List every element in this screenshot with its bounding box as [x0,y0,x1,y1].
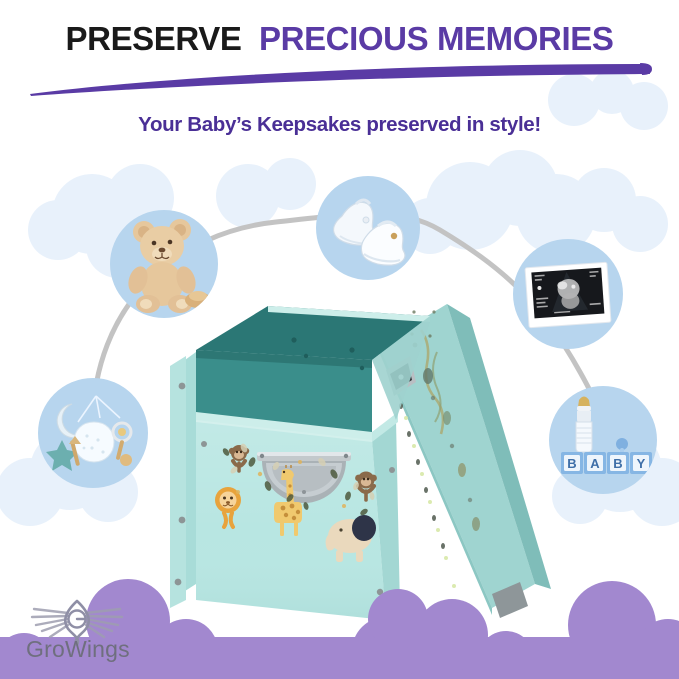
brand-logo[interactable]: GroWings [24,597,174,665]
brand-wordmark: GroWings [26,636,130,663]
baby-keepsake-box[interactable] [0,0,679,679]
promo-graphic: PRESERVE PRECIOUS MEMORIES Your Baby’s K… [0,0,679,679]
box-body [170,306,430,620]
